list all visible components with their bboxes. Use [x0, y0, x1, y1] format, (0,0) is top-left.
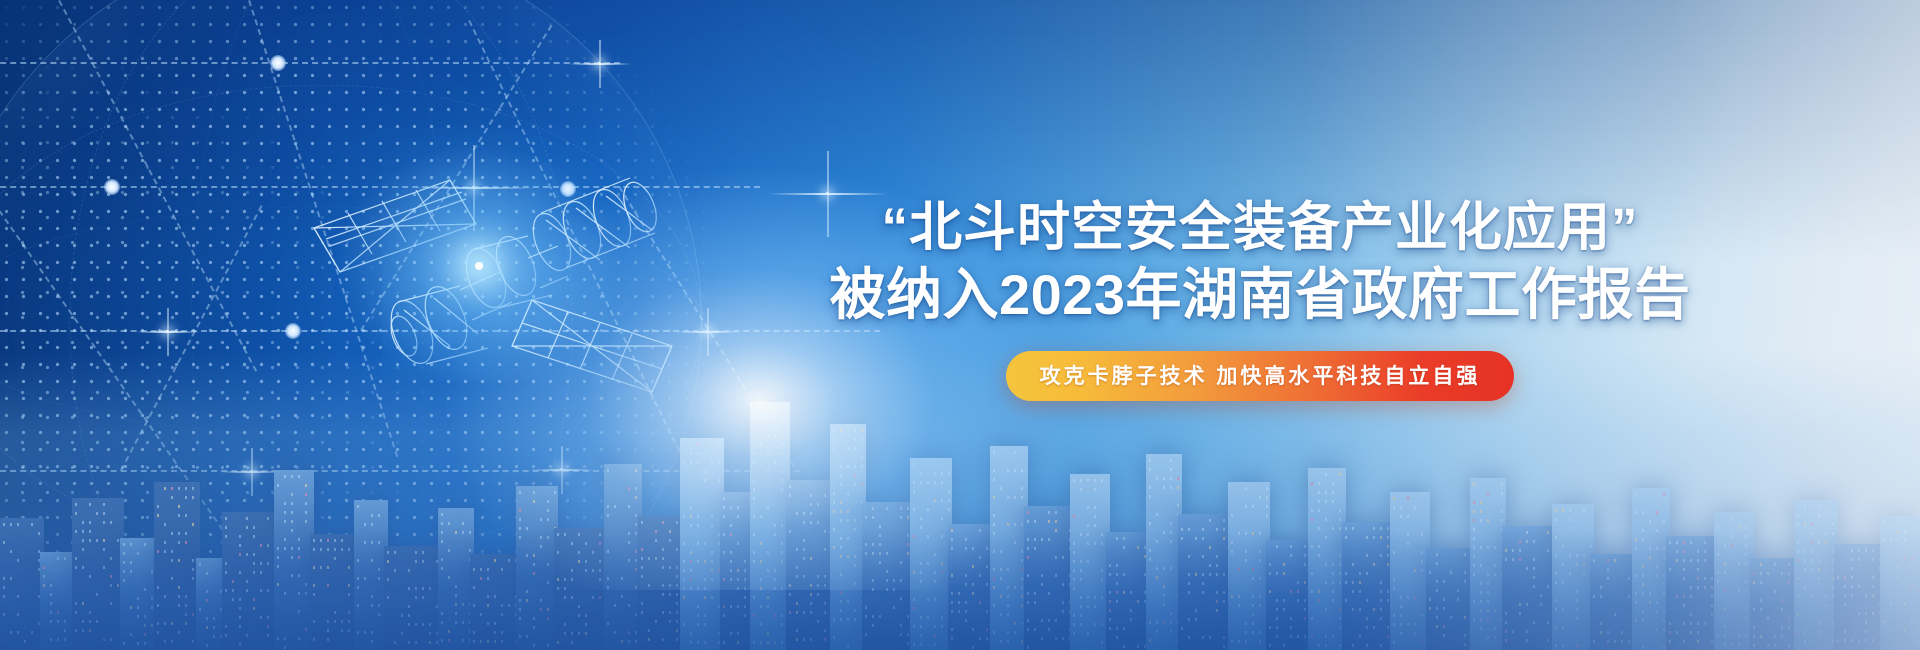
- mesh-node-3: [285, 323, 301, 339]
- subtitle-pill-badge: 攻克卡脖子技术 加快高水平科技自立自强: [1006, 351, 1515, 401]
- star-flare-4: [598, 62, 601, 65]
- headline-line-1: “北斗时空安全装备产业化应用”: [882, 198, 1639, 257]
- page-title: “北斗时空安全装备产业化应用” 被纳入2023年湖南省政府工作报告: [820, 196, 1700, 329]
- subtitle-pill-row: 攻克卡脖子技术 加快高水平科技自立自强: [820, 351, 1700, 401]
- mesh-node-1: [104, 179, 120, 195]
- satellite-core-glow: [475, 262, 483, 270]
- star-flare-2: [166, 330, 169, 333]
- headline-line-2: 被纳入2023年湖南省政府工作报告: [829, 263, 1690, 326]
- banner-copy-block: “北斗时空安全装备产业化应用” 被纳入2023年湖南省政府工作报告 攻克卡脖子技…: [820, 196, 1700, 401]
- promo-banner: “北斗时空安全装备产业化应用” 被纳入2023年湖南省政府工作报告 攻克卡脖子技…: [0, 0, 1920, 650]
- mesh-node-2: [270, 55, 286, 71]
- star-flare-5: [826, 192, 829, 195]
